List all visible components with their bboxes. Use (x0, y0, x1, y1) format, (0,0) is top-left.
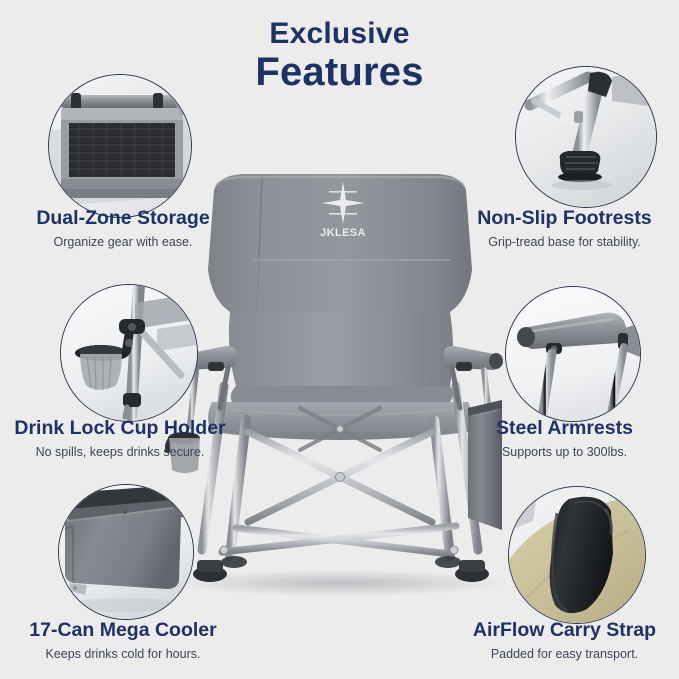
caption-non-slip-footrests: Non-Slip Footrests Grip-tread base for s… (450, 208, 679, 250)
feature-subtitle-steel-armrests: Supports up to 300lbs. (450, 445, 679, 460)
svg-text:JKLESA: JKLESA (320, 227, 366, 239)
cooler-body (65, 507, 181, 589)
rubber-foot (558, 151, 602, 182)
feature-subtitle-dual-zone-storage: Organize gear with ease. (6, 235, 240, 250)
feature-subtitle-non-slip-footrests: Grip-tread base for stability. (450, 235, 679, 250)
caption-mega-cooler: 17-Can Mega Cooler Keeps drinks cold for… (6, 620, 240, 662)
caption-drink-lock-cup-holder: Drink Lock Cup Holder No spills, keeps d… (0, 418, 240, 460)
feature-title-non-slip-footrests: Non-Slip Footrests (450, 208, 679, 230)
inset-drink-lock-cup-holder (60, 284, 198, 422)
feature-subtitle-mega-cooler: Keeps drinks cold for hours. (6, 647, 240, 662)
feature-infographic: Exclusive Features (0, 0, 679, 679)
feature-title-mega-cooler: 17-Can Mega Cooler (6, 620, 240, 642)
caption-steel-armrests: Steel Armrests Supports up to 300lbs. (450, 418, 679, 460)
feature-subtitle-airflow-carry-strap: Padded for easy transport. (450, 647, 679, 662)
inset-steel-armrests (505, 286, 641, 422)
feature-title-dual-zone-storage: Dual-Zone Storage (6, 208, 240, 230)
feature-title-airflow-carry-strap: AirFlow Carry Strap (450, 620, 679, 642)
feature-title-drink-lock-cup-holder: Drink Lock Cup Holder (0, 418, 240, 440)
inset-mega-cooler (58, 484, 194, 620)
feature-subtitle-drink-lock-cup-holder: No spills, keeps drinks secure. (0, 445, 240, 460)
title-line-features: Features (0, 50, 679, 95)
page-title: Exclusive Features (0, 18, 679, 94)
inset-dual-zone-storage (48, 74, 192, 218)
feature-title-steel-armrests: Steel Armrests (450, 418, 679, 440)
caption-airflow-carry-strap: AirFlow Carry Strap Padded for easy tran… (450, 620, 679, 662)
title-line-exclusive: Exclusive (0, 18, 679, 50)
caption-dual-zone-storage: Dual-Zone Storage Organize gear with eas… (6, 208, 240, 250)
inset-airflow-carry-strap (508, 486, 646, 624)
